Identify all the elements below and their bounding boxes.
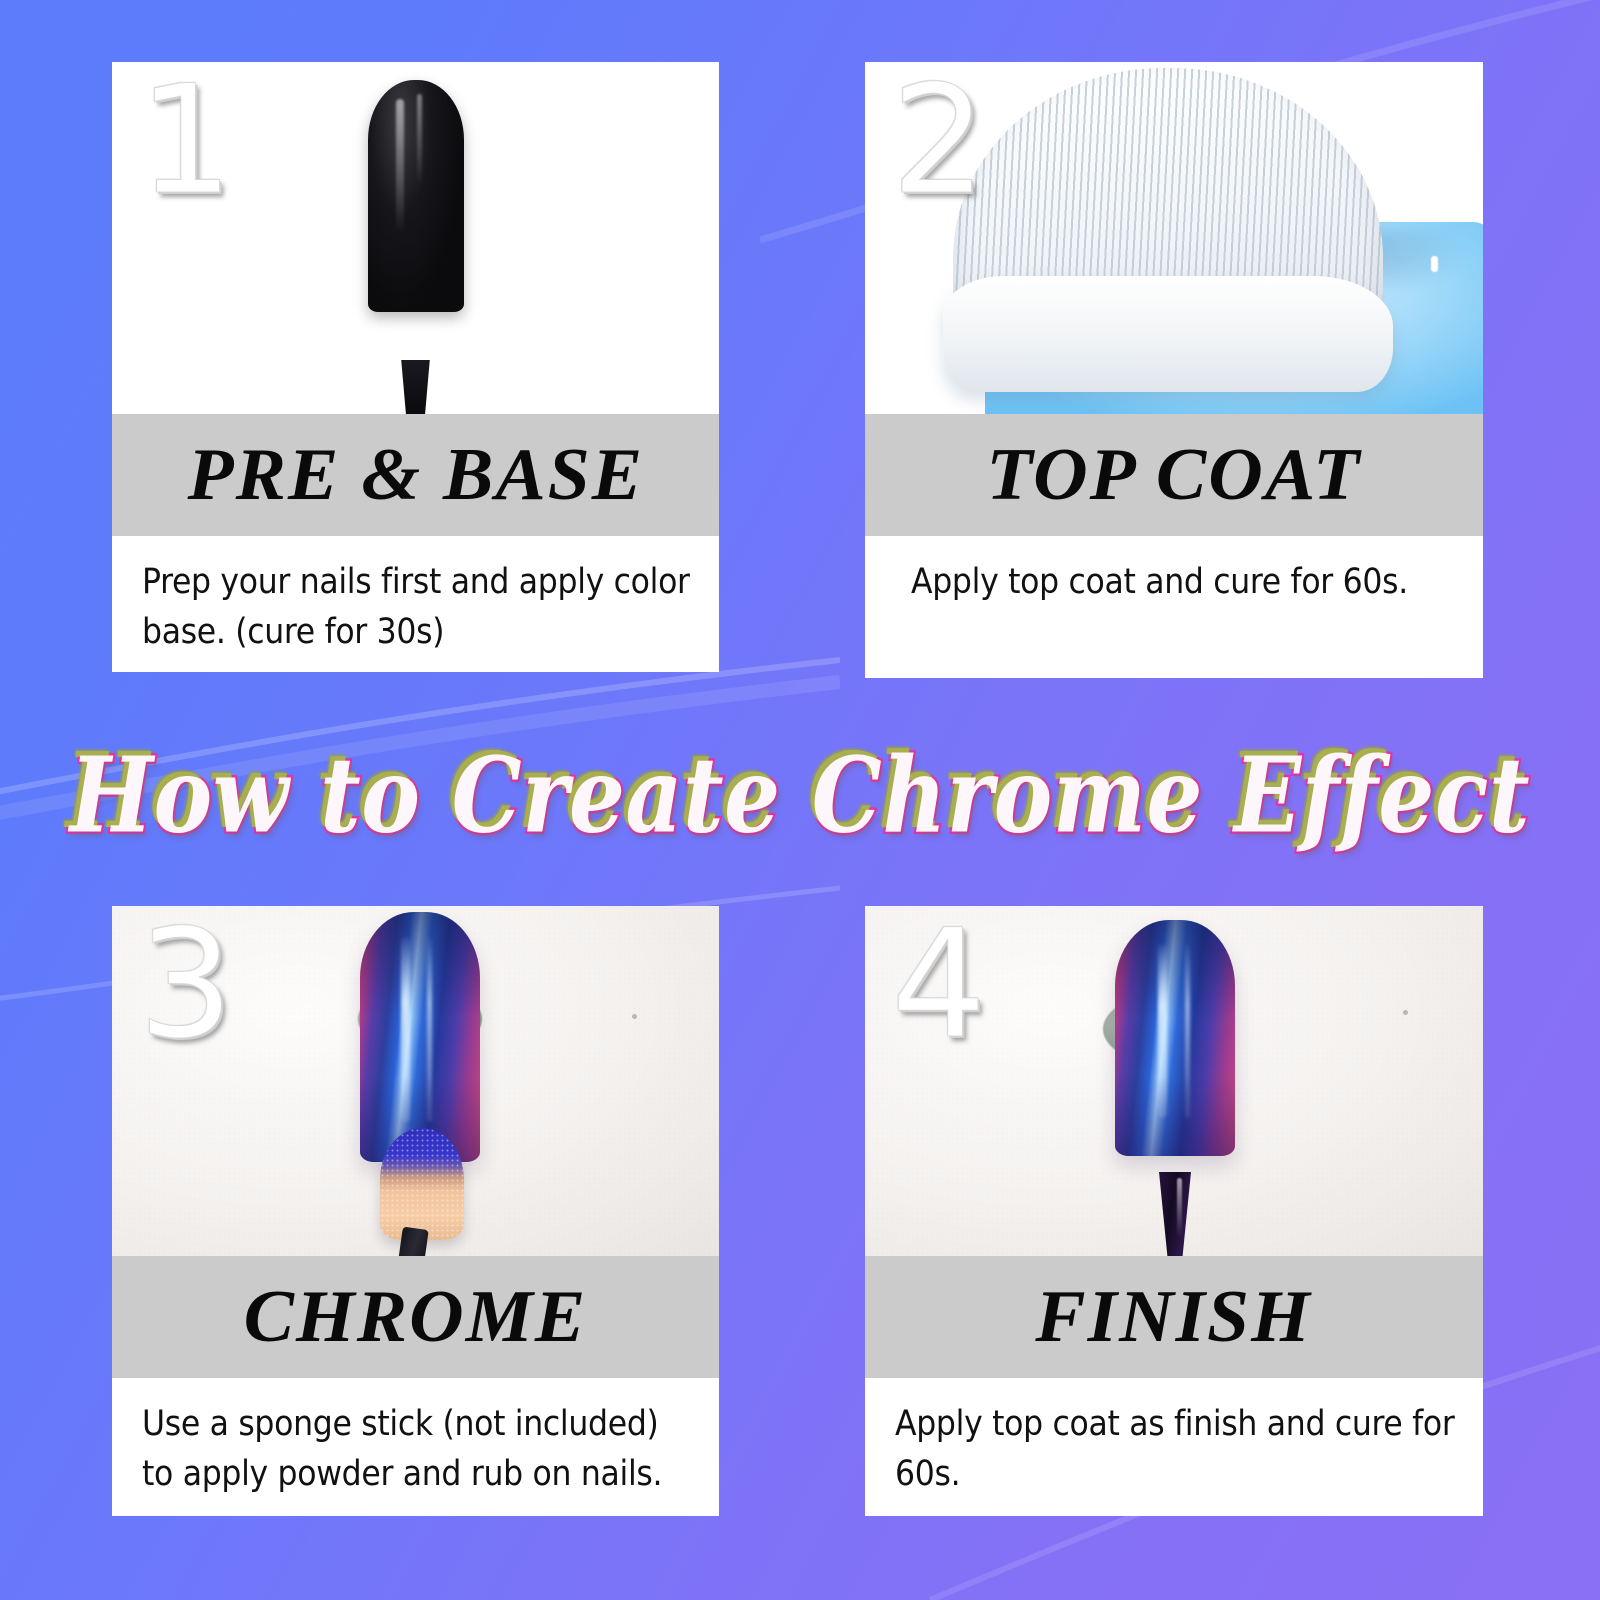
- black-nail-tip: [368, 80, 464, 312]
- sponge-stick-head: [380, 1128, 464, 1240]
- polish-brush-4: [1155, 1172, 1195, 1256]
- lamp-led-light: [1431, 256, 1438, 272]
- headline-text: How to Create Chrome Effect: [70, 743, 1530, 847]
- uv-lamp-lip: [943, 276, 1393, 392]
- chrome-nail-4: [1115, 920, 1235, 1156]
- step-photo-2: 2: [865, 62, 1483, 414]
- infographic-poster: 1 PRE & BASE Prep your nails first and a…: [0, 0, 1600, 1600]
- step-title-4: FINISH: [1036, 1280, 1313, 1354]
- step-photo-4: 4: [865, 906, 1483, 1256]
- step-card-2: 2 TOP COAT Apply top coat and cure for 6…: [865, 62, 1483, 678]
- step-title-band-3: CHROME: [112, 1256, 719, 1378]
- headline-banner: How to Create Chrome Effect: [0, 735, 1600, 855]
- step-number-3: 3: [138, 910, 233, 1060]
- step-caption-2: Apply top coat and cure for 60s.: [865, 536, 1483, 608]
- step-title-band-4: FINISH: [865, 1256, 1483, 1378]
- step-card-1: 1 PRE & BASE Prep your nails first and a…: [112, 62, 719, 672]
- step-title-band-2: TOP COAT: [865, 414, 1483, 536]
- step-title-1: PRE & BASE: [187, 438, 644, 512]
- step-number-2: 2: [891, 66, 986, 216]
- step-caption-1: Prep your nails first and apply color ba…: [112, 536, 719, 657]
- step-title-2: TOP COAT: [987, 438, 1362, 512]
- chrome-nail-3: [360, 912, 480, 1162]
- step-card-4: 4 FINISH Apply top coat as finish and cu…: [865, 906, 1483, 1516]
- polish-brush-1: [399, 360, 433, 414]
- step-title-3: CHROME: [244, 1280, 588, 1354]
- step-photo-3: 3: [112, 906, 719, 1256]
- step-photo-1: 1: [112, 62, 719, 414]
- step-number-4: 4: [891, 910, 986, 1060]
- step-card-3: 3 CHROME Use a sponge stick (not include…: [112, 906, 719, 1516]
- step-caption-3: Use a sponge stick (not included) to app…: [112, 1378, 719, 1499]
- step-caption-4: Apply top coat as finish and cure for 60…: [865, 1378, 1483, 1499]
- step-number-1: 1: [138, 66, 233, 216]
- step-title-band-1: PRE & BASE: [112, 414, 719, 536]
